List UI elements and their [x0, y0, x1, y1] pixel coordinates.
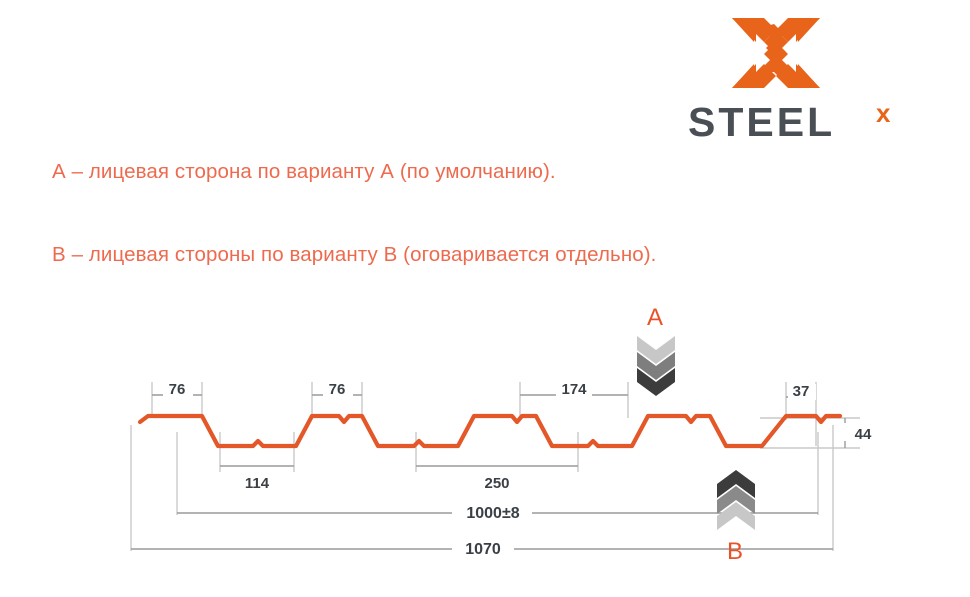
- marker-a-letter: А: [629, 304, 681, 332]
- dimension-label-76-a: 76: [169, 381, 186, 398]
- dimension-label-114: 114: [245, 475, 270, 492]
- dimension-label-1000: 1000±8: [466, 505, 519, 522]
- chevron-down-icon: [637, 334, 675, 396]
- marker-variant-a: А: [629, 306, 681, 402]
- dimension-label-76-b: 76: [329, 381, 346, 398]
- corrugated-profile-line: [140, 416, 840, 446]
- dimension-label-1070: 1070: [465, 541, 501, 558]
- dimension-label-250: 250: [484, 475, 509, 492]
- dimension-label-174: 174: [561, 381, 587, 398]
- dimension-label-44: 44: [855, 426, 872, 443]
- profile-technical-drawing: 76 76 174 37 114 250 44 1000±8 1070: [0, 0, 970, 597]
- dimension-label-37: 37: [793, 383, 810, 400]
- marker-variant-b: В: [709, 470, 761, 562]
- marker-b-letter: В: [709, 538, 761, 566]
- dimension-label-backgrounds: [163, 382, 872, 557]
- chevron-up-icon: [717, 470, 755, 532]
